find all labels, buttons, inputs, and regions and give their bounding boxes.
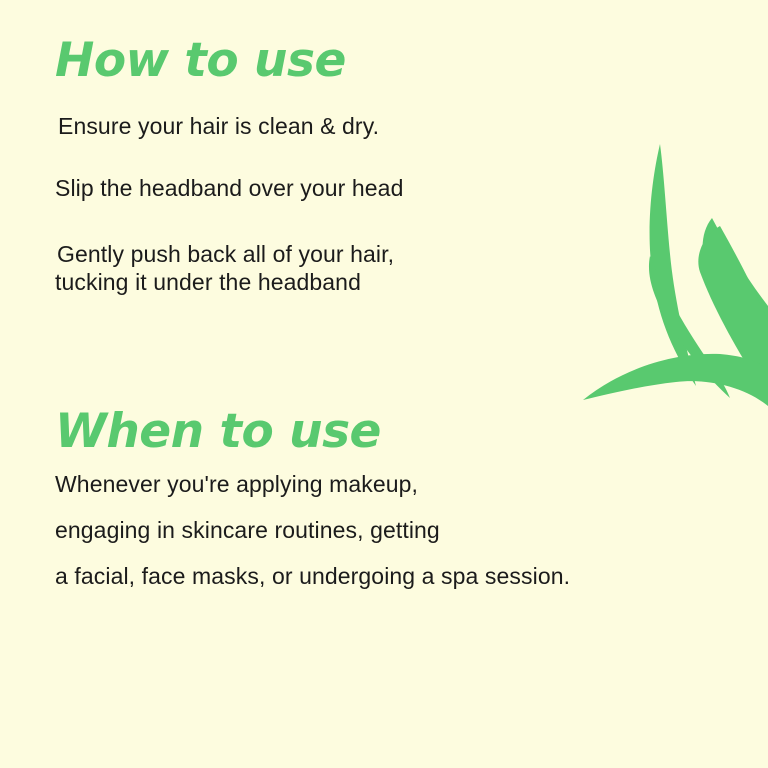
how-to-use-step-3-line-2: tucking it under the headband — [55, 269, 361, 296]
how-to-use-step-2: Slip the headband over your head — [55, 175, 403, 202]
leaf-cluster-icon — [560, 130, 768, 420]
poster-canvas: How to use Ensure your hair is clean & d… — [0, 0, 768, 768]
how-to-use-step-1: Ensure your hair is clean & dry. — [58, 113, 379, 140]
when-to-use-line-3: a facial, face masks, or undergoing a sp… — [55, 563, 570, 590]
when-to-use-line-2: engaging in skincare routines, getting — [55, 517, 440, 544]
section-heading-when-to-use: When to use — [55, 404, 381, 459]
when-to-use-line-1: Whenever you're applying makeup, — [55, 471, 418, 498]
how-to-use-step-3-line-1: Gently push back all of your hair, — [57, 241, 394, 268]
section-heading-how-to-use: How to use — [55, 33, 346, 88]
